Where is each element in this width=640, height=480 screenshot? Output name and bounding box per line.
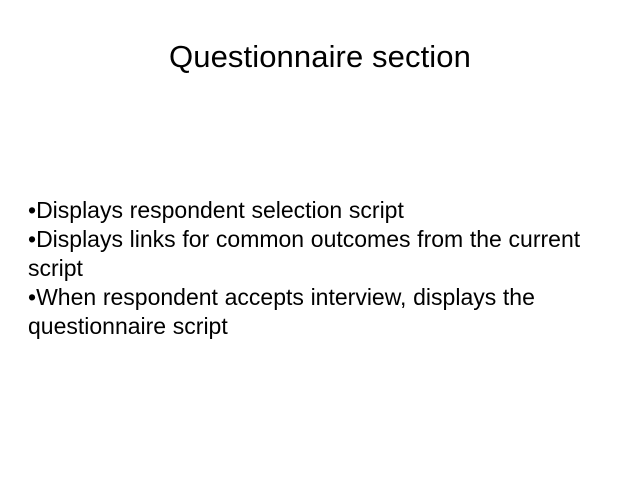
bullet-list: •Displays respondent selection script •D… xyxy=(28,196,614,341)
bullet-point-icon: • xyxy=(28,197,36,223)
list-item: •Displays links for common outcomes from… xyxy=(28,225,614,283)
presentation-slide: Questionnaire section •Displays responde… xyxy=(0,0,640,480)
list-item-label: Displays links for common outcomes from … xyxy=(28,226,580,281)
bullet-point-icon: • xyxy=(28,284,36,310)
page-title: Questionnaire section xyxy=(0,38,640,76)
list-item: •Displays respondent selection script xyxy=(28,196,614,225)
list-item-label: Displays respondent selection script xyxy=(36,197,404,223)
bullet-point-icon: • xyxy=(28,226,36,252)
list-item: •When respondent accepts interview, disp… xyxy=(28,283,614,341)
list-item-label: When respondent accepts interview, displ… xyxy=(28,284,535,339)
